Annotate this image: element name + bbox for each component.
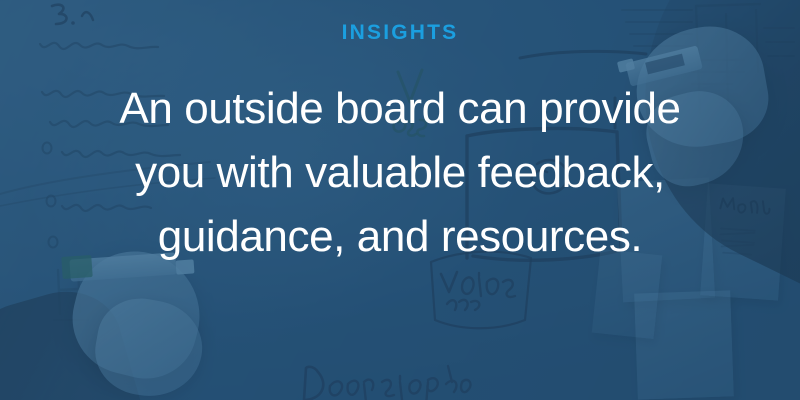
headline-quote: An outside board can provide you with va… <box>30 77 770 270</box>
slide-content: INSIGHTS An outside board can provide yo… <box>0 0 800 400</box>
eyebrow-label: INSIGHTS <box>342 22 459 43</box>
insights-quote-slide: INSIGHTS An outside board can provide yo… <box>0 0 800 400</box>
headline-line-1: An outside board can provide <box>30 77 770 141</box>
headline-line-2: you with valuable feedback, <box>30 141 770 205</box>
headline-line-3: guidance, and resources. <box>30 205 770 269</box>
